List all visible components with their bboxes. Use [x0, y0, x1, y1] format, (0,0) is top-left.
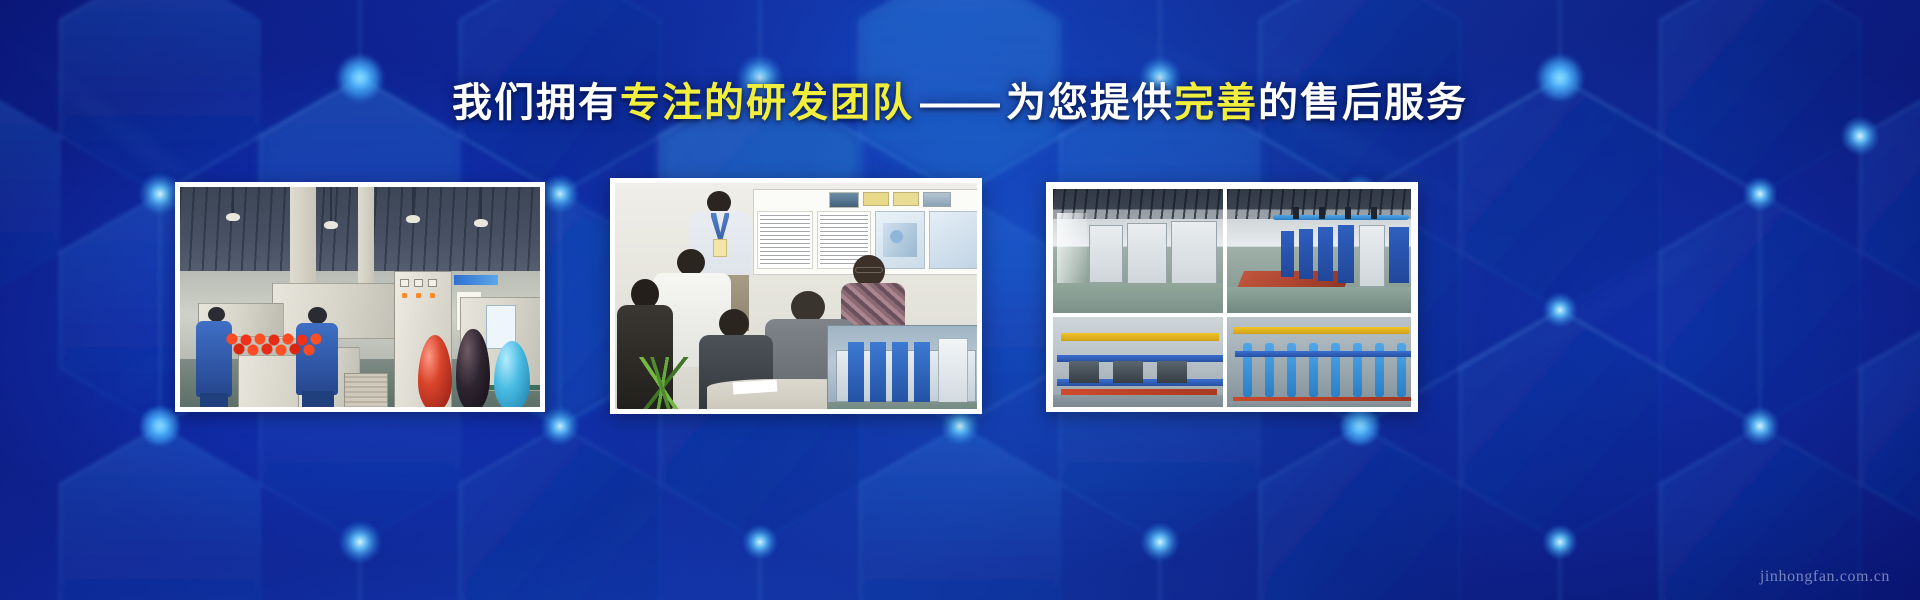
cabinet-label-blue	[454, 275, 498, 285]
cabinet-led-2	[416, 293, 421, 298]
workshop-cell-bottom-left	[1051, 315, 1225, 407]
blue-cabinet-1	[1281, 231, 1294, 277]
photo-panel-3-image	[1051, 187, 1413, 407]
glass-vase-dark	[456, 329, 490, 407]
ceiling-lamp-3	[406, 215, 420, 223]
ceiling-lamp-1	[226, 213, 240, 221]
title-segment-4: 完善	[1174, 81, 1258, 125]
white-control-unit	[1359, 225, 1385, 287]
photo-panel-1-image	[180, 187, 540, 407]
blue-cabinet-3	[1318, 227, 1333, 281]
workshop-cell-top-right	[1225, 187, 1413, 315]
cabinet-dial-2	[414, 279, 423, 287]
cart-3	[1157, 361, 1187, 383]
poster-diagram-2	[929, 211, 977, 269]
worker-2-head	[308, 307, 327, 324]
title-segment-1: 专注的研发团队	[620, 81, 914, 125]
person-center-head	[677, 249, 705, 276]
cabinet-dial-3	[428, 279, 437, 287]
machine-inset-blue-4	[914, 342, 930, 402]
title-segment-0: 我们拥有	[452, 81, 620, 125]
exhaust-column	[290, 187, 316, 287]
machine-inset-blue-3	[892, 342, 908, 402]
pipe-valve-3	[1345, 207, 1351, 219]
ceiling-lamp-cord-4	[480, 187, 482, 219]
title-segment-3: 为您提供	[1006, 81, 1174, 125]
worker-1-legs	[200, 393, 228, 407]
hall-floor-tl	[1053, 283, 1223, 313]
oven-machine	[272, 283, 412, 339]
person-right-glasses	[855, 267, 883, 273]
overhead-yellow-beam	[1061, 333, 1219, 341]
photo-panel-production-line[interactable]	[175, 182, 545, 412]
poster-text-left	[757, 211, 813, 269]
site-watermark: jinhongfan.com.cn	[1760, 568, 1890, 586]
worker-1-head	[208, 307, 225, 322]
ceiling-lamp-cord-2	[330, 187, 332, 221]
worker-2-legs	[302, 391, 334, 407]
ceiling-lamp-4	[474, 219, 488, 227]
poster-photo-3	[893, 192, 919, 206]
cabinet-dial-1	[400, 279, 409, 287]
potted-plant	[625, 357, 699, 409]
machine-equipment-inset	[827, 325, 977, 409]
glass-vase-cyan	[494, 341, 530, 407]
poster-machine-sketch	[883, 223, 917, 257]
poster-photo-4	[923, 192, 951, 207]
hero-banner: 我们拥有专注的研发团队——为您提供完善的售后服务	[0, 0, 1920, 600]
oven-cabinet-tl-3	[1171, 221, 1217, 287]
cart-1	[1069, 361, 1099, 383]
pipe-valve-2	[1319, 207, 1325, 219]
conveyor-floor	[1053, 395, 1223, 407]
poster-photo-1	[829, 192, 859, 208]
oven-cabinet-tl-1	[1089, 225, 1123, 283]
machine-inset-blue-1	[848, 342, 864, 402]
hall-light-tl	[1057, 213, 1087, 283]
line-floor	[1227, 401, 1411, 407]
photo-panel-team-meeting[interactable]	[610, 178, 982, 414]
person-standing-badge	[713, 239, 727, 257]
oven-cabinet-tl-2	[1127, 223, 1167, 285]
pipe-valve-1	[1293, 207, 1299, 219]
cart-2	[1113, 361, 1143, 383]
machine-inset-white-cab	[938, 338, 968, 404]
title-segment-5: 的售后服务	[1258, 81, 1468, 125]
photo-panel-2-image	[615, 183, 977, 409]
banner-title-container: 我们拥有专注的研发团队——为您提供完善的售后服务	[0, 78, 1920, 129]
glass-vase-red	[418, 335, 452, 407]
workshop-cell-bottom-right	[1225, 315, 1413, 407]
plastic-crate	[344, 373, 388, 407]
machine-inset-blue-2	[870, 342, 886, 402]
blue-cabinet-4	[1338, 225, 1354, 283]
cabinet-led-3	[430, 293, 435, 298]
title-segment-dash: ——	[914, 81, 1006, 125]
poster-photo-2	[863, 192, 889, 206]
blue-cabinet-2	[1299, 229, 1313, 279]
red-parts-row	[226, 333, 326, 359]
person-front-head	[719, 309, 749, 338]
workshop-cell-top-left	[1051, 187, 1225, 315]
ceiling-lamp-cord-3	[412, 187, 414, 215]
blue-cabinet-5	[1389, 227, 1409, 283]
hall-floor-tr	[1227, 287, 1411, 313]
photo-panel-workshop-composite[interactable]	[1046, 182, 1418, 412]
ceiling-lamp-2	[324, 221, 338, 229]
ceiling-lamp-cord-1	[232, 187, 234, 213]
machine-inset-floor	[828, 402, 977, 409]
banner-title: 我们拥有专注的研发团队——为您提供完善的售后服务	[452, 78, 1468, 129]
cabinet-led-1	[402, 293, 407, 298]
crane-beam	[1233, 327, 1409, 334]
pipe-valve-4	[1371, 207, 1377, 219]
line-crossbar	[1235, 351, 1411, 357]
